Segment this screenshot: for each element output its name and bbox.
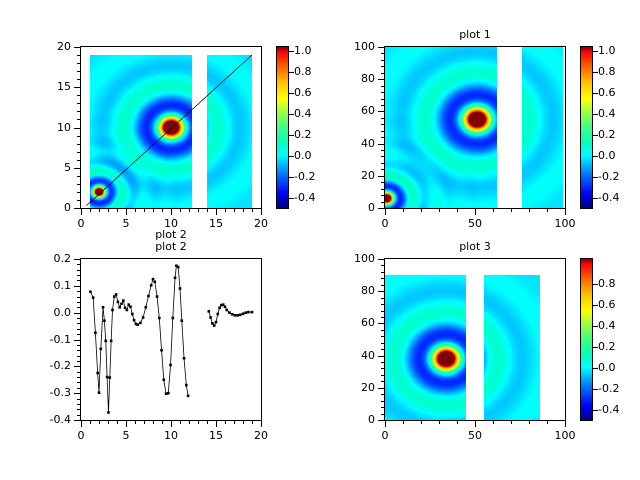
x-tick-minor — [457, 421, 458, 424]
y-tick-minor — [381, 272, 384, 273]
x-tick-minor — [547, 421, 548, 424]
colorbar-bottom-right — [580, 258, 593, 421]
y-tick-minor — [381, 394, 384, 395]
y-tick-minor — [381, 265, 384, 266]
y-tick-label: 20 — [330, 381, 375, 394]
x-tick-minor — [421, 421, 422, 424]
y-tick-minor — [381, 349, 384, 350]
y-tick-minor — [381, 304, 384, 305]
heatmap-block — [385, 275, 466, 420]
x-tick-major — [475, 421, 476, 427]
x-tick-major — [385, 421, 386, 427]
y-tick-minor — [381, 330, 384, 331]
figure-canvas: plot 205101520051015201.00.80.60.40.20.0… — [0, 0, 640, 480]
y-tick-minor — [381, 401, 384, 402]
y-tick-major — [378, 323, 384, 324]
x-tick-major — [565, 421, 566, 427]
y-tick-minor — [381, 407, 384, 408]
x-tick-label: 0 — [365, 429, 405, 442]
plot-panel-bottom-right: plot 30501000204060801000.80.60.40.20.0-… — [0, 0, 640, 480]
plot-axes-bottom-right — [384, 258, 566, 421]
y-tick-label: 60 — [330, 316, 375, 329]
y-tick-major — [378, 259, 384, 260]
y-tick-minor — [381, 317, 384, 318]
y-tick-major — [378, 420, 384, 421]
y-tick-minor — [381, 336, 384, 337]
x-tick-minor — [493, 421, 494, 424]
colorbar-tick-label: -0.2 — [598, 382, 619, 395]
colorbar-tick-label: 0.0 — [598, 361, 616, 374]
y-tick-minor — [381, 343, 384, 344]
colorbar-tick-label: 0.4 — [598, 319, 616, 332]
y-tick-minor — [381, 298, 384, 299]
y-tick-minor — [381, 285, 384, 286]
y-tick-minor — [381, 414, 384, 415]
y-tick-label: 80 — [330, 284, 375, 297]
colorbar-tick-label: 0.2 — [598, 340, 616, 353]
x-tick-minor — [511, 421, 512, 424]
y-tick-minor — [381, 362, 384, 363]
x-tick-label: 100 — [545, 429, 585, 442]
y-tick-minor — [381, 381, 384, 382]
y-tick-label: 100 — [330, 252, 375, 265]
x-tick-minor — [403, 421, 404, 424]
plot-title: plot 3 — [384, 240, 566, 253]
y-tick-minor — [381, 375, 384, 376]
y-tick-minor — [381, 368, 384, 369]
y-tick-major — [378, 291, 384, 292]
y-tick-minor — [381, 278, 384, 279]
colorbar-gradient — [581, 259, 592, 420]
x-tick-minor — [439, 421, 440, 424]
y-tick-major — [378, 388, 384, 389]
colorbar-tick-label: 0.6 — [598, 298, 616, 311]
y-tick-label: 40 — [330, 349, 375, 362]
x-tick-label: 50 — [455, 429, 495, 442]
heatmap-block — [484, 275, 540, 420]
colorbar-tick-label: 0.8 — [598, 277, 616, 290]
y-tick-major — [378, 356, 384, 357]
x-tick-minor — [529, 421, 530, 424]
y-tick-label: 0 — [330, 413, 375, 426]
y-tick-minor — [381, 311, 384, 312]
colorbar-tick-label: -0.4 — [598, 403, 619, 416]
